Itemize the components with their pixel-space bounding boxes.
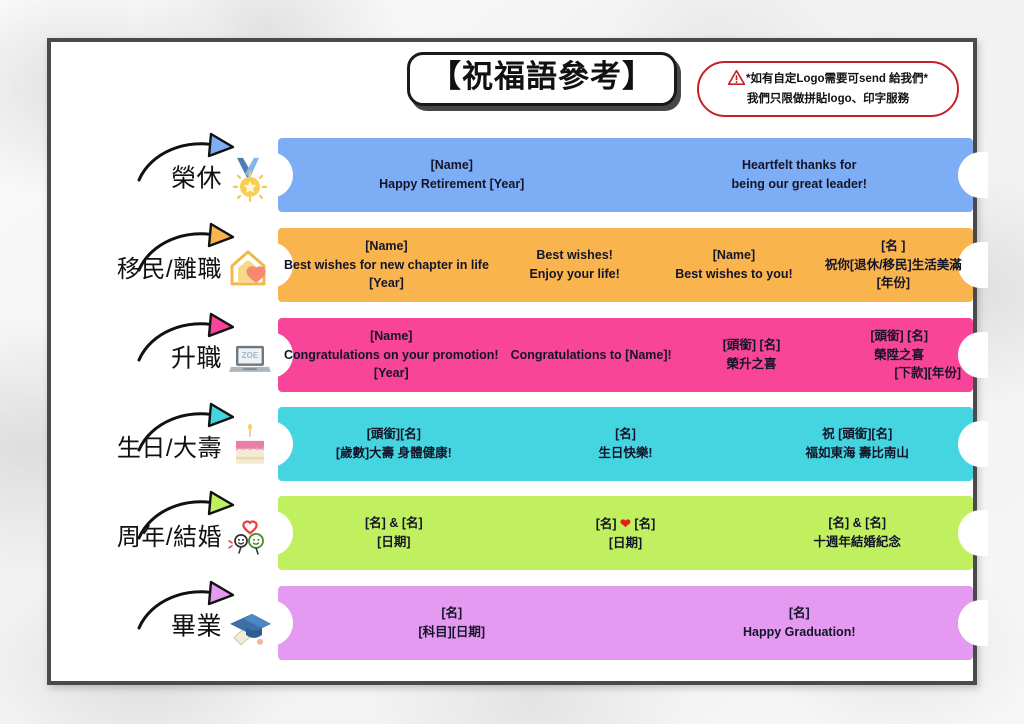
cell-line: [Name] xyxy=(660,246,807,265)
greeting-cell: Best wishes! Enjoy your life! xyxy=(495,246,654,284)
cell-line: [名] xyxy=(516,425,736,444)
category-label-graduation: 畢業 xyxy=(171,606,222,642)
cell-line: [名] xyxy=(632,604,968,623)
cell-line: Best wishes for new chapter in life xyxy=(284,256,489,275)
row-label-zone: 移民/離職 xyxy=(51,220,278,310)
cell-line: [頭銜] [名] xyxy=(684,336,820,355)
greeting-cell: [Name] Happy Retirement [Year] xyxy=(278,156,626,194)
cell-line: 福如東海 壽比南山 xyxy=(747,444,967,463)
cell-line: [Name] xyxy=(284,237,489,256)
notice-line-2: 我們只限做拼貼logo、印字服務 xyxy=(711,91,945,108)
cell-line: 祝 [頭銜][名] xyxy=(747,425,967,444)
row-label-zone: 榮休 xyxy=(51,130,278,220)
cell-line: [Name] xyxy=(284,327,499,346)
cell-line: [Year] xyxy=(284,274,489,293)
band-emigration: [Name] Best wishes for new chapter in li… xyxy=(278,228,973,302)
cell-line-with-heart: [名] ❤ [名] xyxy=(516,514,736,534)
cell-line: 榮陞之喜 xyxy=(831,346,967,365)
band-anniversary: [名] & [名] [日期] [名] ❤ [名] [日期] [名] & [名] … xyxy=(278,496,973,570)
couple-heart-icon xyxy=(226,512,274,560)
heart-icon: ❤ xyxy=(620,516,631,531)
house-heart-icon xyxy=(226,244,274,292)
graduation-cap-icon xyxy=(226,602,274,650)
greeting-cell: [Name] Congratulations on your promotion… xyxy=(278,327,505,383)
cell-line: [Name] xyxy=(284,156,620,175)
cell-line: Congratulations to [Name]! xyxy=(511,346,672,365)
band-promotion: [Name] Congratulations on your promotion… xyxy=(278,318,973,392)
greeting-cell: [Name] Best wishes to you! xyxy=(654,246,813,284)
svg-text:ZOE: ZOE xyxy=(242,351,259,360)
category-label-anniversary: 周年/結婚 xyxy=(117,517,222,552)
cell-line: Heartfelt thanks for xyxy=(632,156,968,175)
cell-line: [日期] xyxy=(516,534,736,553)
row-birthday: 生日/大壽 [頭銜][名] [歲數]大壽 身體健康! xyxy=(51,400,973,488)
row-anniversary: 周年/結婚 [名] xyxy=(51,488,973,578)
page-title-text: 【祝福語參考】 xyxy=(430,59,654,94)
greeting-cell: [名] 生日快樂! xyxy=(510,425,742,463)
cell-line: being our great leader! xyxy=(632,175,968,194)
row-label-zone: 升職 ZOE xyxy=(51,310,278,400)
greeting-cell: 祝 [頭銜][名] 福如東海 壽比南山 xyxy=(741,425,973,463)
cell-line: 生日快樂! xyxy=(516,444,736,463)
notice-text-1: *如有自定Logo需要可send 給我們* xyxy=(746,73,928,85)
cell-line: Happy Graduation! xyxy=(632,623,968,642)
cell-line: Best wishes! xyxy=(501,246,648,265)
row-retirement: 榮休 xyxy=(51,130,973,220)
cell-line: [日期] xyxy=(284,533,504,552)
cell-line: [年份] xyxy=(820,274,967,293)
row-label-zone: 生日/大壽 xyxy=(51,400,278,488)
row-label-zone: 周年/結婚 xyxy=(51,488,278,578)
cell-line: [名] xyxy=(284,604,620,623)
greeting-cell: [Name] Best wishes for new chapter in li… xyxy=(278,237,495,293)
category-label-emigration: 移民/離職 xyxy=(117,249,222,284)
cell-line: [歲數]大壽 身體健康! xyxy=(284,444,504,463)
greeting-cell: [頭銜] [名] 榮陞之喜 [下款][年份] xyxy=(825,327,973,383)
page-title: 【祝福語參考】 xyxy=(407,52,677,106)
row-label-zone: 畢業 xyxy=(51,578,278,668)
cell-line: [頭銜][名] xyxy=(284,425,504,444)
row-promotion: 升職 ZOE [Name] Congratulations on your pr… xyxy=(51,310,973,400)
greeting-cell: [名] & [名] 十週年結婚紀念 xyxy=(741,514,973,552)
band-graduation: [名] [科目][日期] [名] Happy Graduation! xyxy=(278,586,973,660)
cell-line: 榮升之喜 xyxy=(684,355,820,374)
greeting-cell: Congratulations to [Name]! xyxy=(505,346,678,365)
greeting-cell: [名] Happy Graduation! xyxy=(626,604,974,642)
row-graduation: 畢業 [名] [科目][日期] [名] xyxy=(51,578,973,668)
cell-line: [下款][年份] xyxy=(831,364,967,383)
birthday-cake-icon xyxy=(226,423,274,471)
cell-line: 十週年結婚紀念 xyxy=(747,533,967,552)
cell-line: Enjoy your life! xyxy=(501,265,648,284)
cell-line: 祝你[退休/移民]生活美滿 xyxy=(820,256,967,275)
greeting-cell: [名] [科目][日期] xyxy=(278,604,626,642)
row-emigration: 移民/離職 [Name] Best wishes for new chapter… xyxy=(51,220,973,310)
category-label-retirement: 榮休 xyxy=(171,158,222,194)
band-retirement: [Name] Happy Retirement [Year] Heartfelt… xyxy=(278,138,973,212)
cell-line: [名 ] xyxy=(820,237,967,256)
category-label-birthday: 生日/大壽 xyxy=(117,428,222,463)
logo-notice-banner: *如有自定Logo需要可send 給我們* 我們只限做拼貼logo、印字服務 xyxy=(697,61,959,117)
cell-line: [名] & [名] xyxy=(284,514,504,533)
cell-line: Happy Retirement [Year] xyxy=(284,175,620,194)
cell-line: [名] & [名] xyxy=(747,514,967,533)
greeting-rows: 榮休 xyxy=(51,130,973,668)
cell-line: Best wishes to you! xyxy=(660,265,807,284)
cell-line: [頭銜] [名] xyxy=(831,327,967,346)
notice-line-1: *如有自定Logo需要可send 給我們* xyxy=(711,70,945,91)
warning-triangle-icon xyxy=(728,70,745,91)
greeting-cell: Heartfelt thanks for being our great lea… xyxy=(626,156,974,194)
poster-card: 【祝福語參考】 *如有自定Logo需要可send 給我們* 我們只限做拼貼log… xyxy=(47,38,977,685)
cell-line: [科目][日期] xyxy=(284,623,620,642)
poster-header: 【祝福語參考】 *如有自定Logo需要可send 給我們* 我們只限做拼貼log… xyxy=(51,42,973,130)
greeting-cell: [頭銜][名] [歲數]大壽 身體健康! xyxy=(278,425,510,463)
greeting-cell: [名 ] 祝你[退休/移民]生活美滿 [年份] xyxy=(814,237,973,293)
cell-line: [Year] xyxy=(284,364,499,383)
greeting-cell: [名] ❤ [名] [日期] xyxy=(510,514,742,553)
cell-line: Congratulations on your promotion! xyxy=(284,346,499,365)
greeting-cell: [名] & [名] [日期] xyxy=(278,514,510,552)
medal-icon xyxy=(226,154,274,202)
category-label-promotion: 升職 xyxy=(171,338,222,374)
band-birthday: [頭銜][名] [歲數]大壽 身體健康! [名] 生日快樂! 祝 [頭銜][名]… xyxy=(278,407,973,481)
greeting-cell: [頭銜] [名] 榮升之喜 xyxy=(678,336,826,374)
laptop-icon: ZOE xyxy=(226,334,274,382)
